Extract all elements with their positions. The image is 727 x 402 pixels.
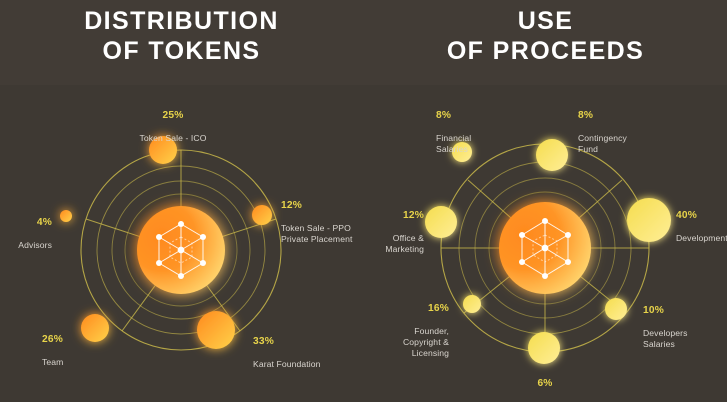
label-text: Financial Salaries — [436, 133, 471, 154]
label-token-sale-ico: 25% Token Sale - ICO — [118, 98, 228, 144]
node-contingency-fund — [536, 139, 568, 171]
label-percent: 40% — [676, 209, 727, 222]
label-text: Developers Salaries — [643, 328, 687, 349]
label-text: Founder, Copyright & Licensing — [403, 326, 449, 358]
infographic-root: DISTRIBUTION OF TOKENS — [0, 0, 727, 402]
center-core-distribution — [137, 206, 225, 294]
node-advisors — [60, 210, 72, 222]
label-text: Karat Foundation — [253, 359, 321, 369]
label-text: Team — [42, 357, 63, 367]
label-text: Office & Marketing — [385, 233, 424, 254]
label-percent: 25% — [118, 109, 228, 122]
node-developers-salaries — [605, 298, 627, 320]
label-text: Contingency Fund — [578, 133, 627, 154]
label-founder-copyright-licensing: 16% Founder, Copyright & Licensing — [364, 291, 449, 359]
label-percent: 8% — [578, 109, 662, 122]
node-advisors — [528, 332, 560, 364]
node-office-marketing — [425, 206, 457, 238]
label-text: Token Sale - ICO — [139, 133, 206, 143]
label-advisors: 6% Advisors — [504, 366, 586, 402]
label-text: Advisors — [18, 240, 52, 250]
label-percent: 16% — [364, 302, 449, 315]
label-team: 26% Team — [42, 322, 102, 368]
label-advisors: 4% Advisors — [0, 205, 52, 251]
label-text: Token Sale - PPO Private Placement — [281, 223, 352, 244]
panel-distribution-of-tokens: DISTRIBUTION OF TOKENS — [0, 0, 363, 402]
label-percent: 4% — [0, 216, 52, 229]
label-percent: 6% — [504, 377, 586, 390]
label-office-marketing: 12% Office & Marketing — [364, 198, 424, 255]
label-percent: 8% — [436, 109, 514, 122]
panel-use-of-proceeds: USE OF PROCEEDS — [364, 0, 727, 402]
label-percent: 12% — [364, 209, 424, 222]
center-core-use-of-proceeds — [499, 202, 591, 294]
label-karat-foundation: 33% Karat Foundation — [253, 324, 361, 370]
label-percent: 10% — [643, 304, 723, 317]
node-development — [627, 198, 671, 242]
label-token-sale-ppo: 12% Token Sale - PPO Private Placement — [281, 188, 363, 245]
label-contingency-fund: 8% Contingency Fund — [578, 98, 662, 155]
node-karat-foundation — [197, 311, 235, 349]
label-percent: 26% — [42, 333, 102, 346]
node-token-sale-ppo — [252, 205, 272, 225]
label-financial-salaries: 8% Financial Salaries — [436, 98, 514, 155]
label-development: 40% Development — [676, 198, 727, 244]
label-percent: 12% — [281, 199, 363, 212]
node-founder-copyright-licensing — [463, 295, 481, 313]
label-text: Development — [676, 233, 727, 243]
label-percent: 33% — [253, 335, 361, 348]
label-developers-salaries: 10% Developers Salaries — [643, 293, 723, 350]
